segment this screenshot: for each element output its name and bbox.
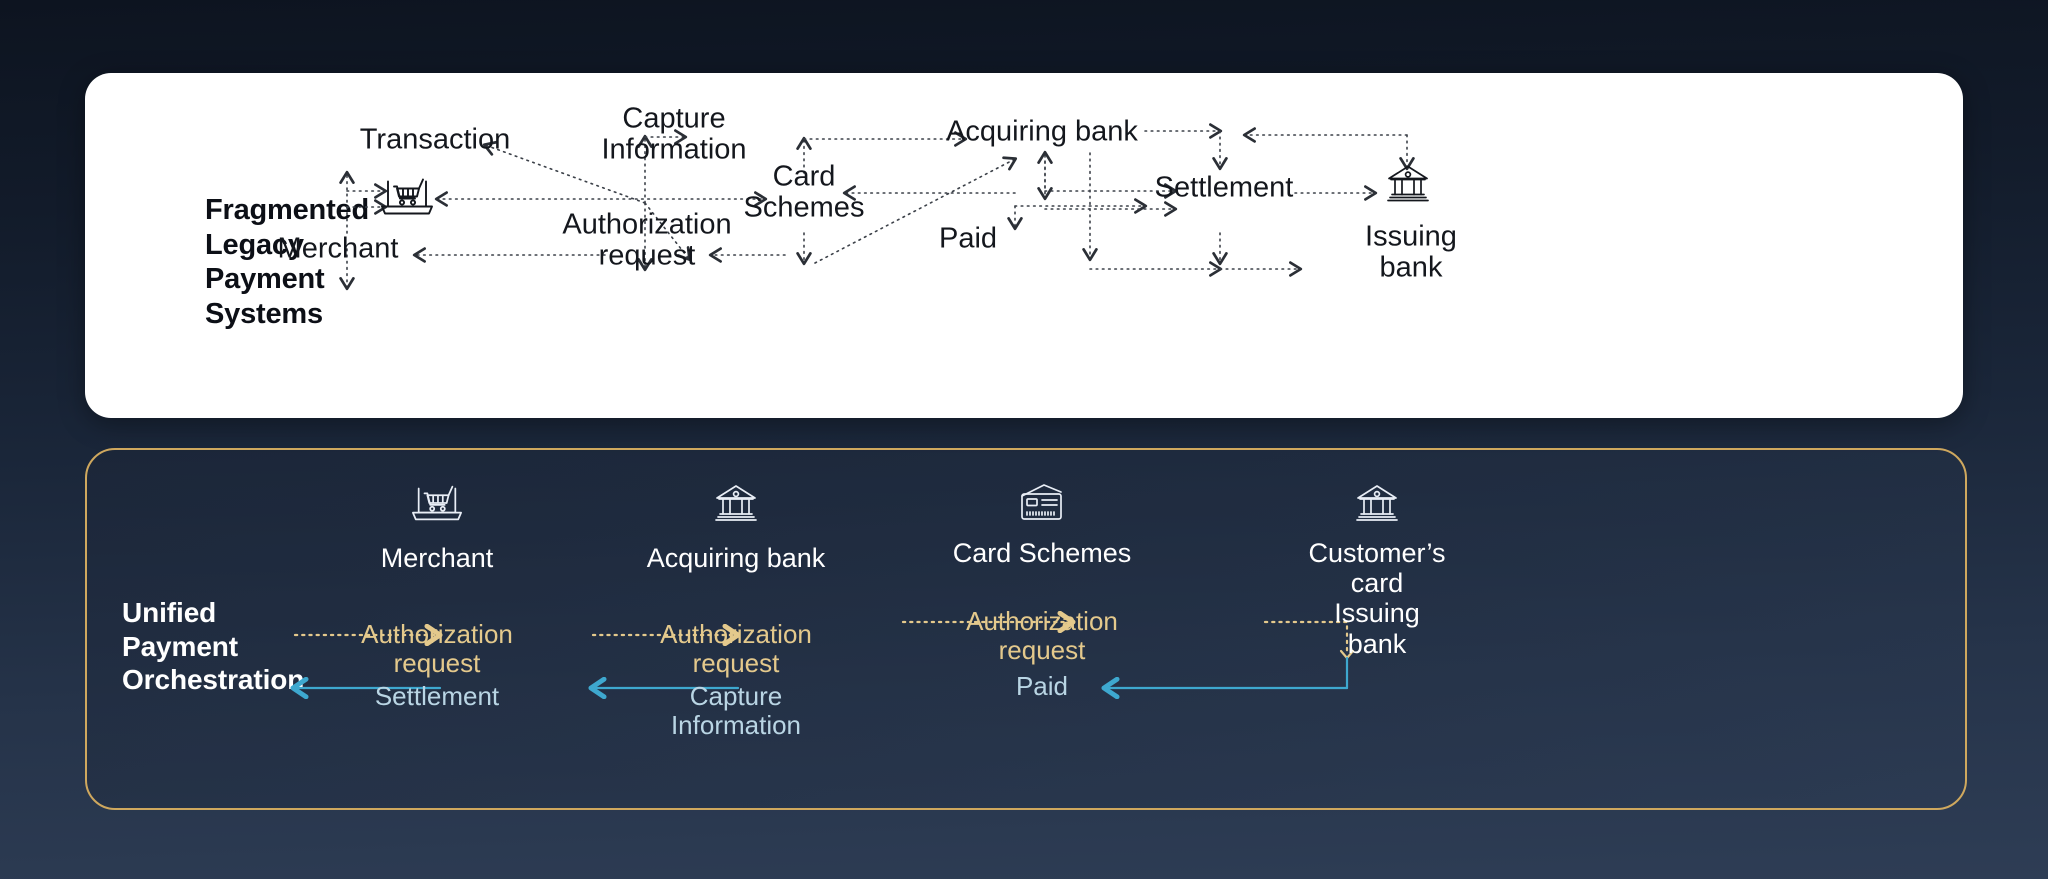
unified-forward-merchant: Authorization request xyxy=(292,620,582,678)
unified-payment-orchestration-panel: Unified Payment Orchestration xyxy=(85,448,1967,810)
diagram-canvas: Fragmented Legacy Payment Systems xyxy=(0,0,2048,879)
unified-label-acquiring-bank: Acquiring bank xyxy=(591,543,881,573)
legacy-node-authorization-request: Authorization request xyxy=(562,210,731,273)
legacy-node-transaction: Transaction xyxy=(360,124,510,155)
unified-payment-orchestration-title: Unified Payment Orchestration xyxy=(122,596,304,697)
laptop-cart-icon xyxy=(410,482,464,529)
legacy-node-merchant: Merchant xyxy=(278,233,399,264)
legacy-node-paid: Paid xyxy=(939,223,997,254)
unified-label-merchant: Merchant xyxy=(292,543,582,573)
unified-forward-card-schemes: Authorization request xyxy=(897,607,1187,665)
unified-return-merchant: Settlement xyxy=(292,682,582,711)
bank-icon xyxy=(1385,163,1431,210)
bank-icon xyxy=(713,482,759,529)
legacy-node-acquiring-bank: Acquiring bank xyxy=(946,116,1138,147)
legacy-node-card-schemes: Card Schemes xyxy=(744,162,865,225)
legacy-node-issuing-bank: Issuing bank xyxy=(1365,222,1457,285)
credit-cards-icon xyxy=(1014,480,1070,529)
unified-label-card-schemes: Card Schemes xyxy=(897,538,1187,568)
bank-icon xyxy=(1354,482,1400,529)
legacy-node-settlement: Settlement xyxy=(1155,172,1294,203)
fragmented-legacy-panel: Fragmented Legacy Payment Systems xyxy=(85,73,1963,418)
unified-return-acquiring-bank: Capture Information xyxy=(591,682,881,740)
unified-forward-acquiring-bank: Authorization request xyxy=(591,620,881,678)
laptop-cart-icon xyxy=(379,176,435,223)
unified-label-issuing-bank: Customer’s card Issuing bank xyxy=(1232,538,1522,659)
legacy-node-capture-information: Capture Information xyxy=(601,104,746,167)
unified-return-card-schemes: Paid xyxy=(897,672,1187,701)
